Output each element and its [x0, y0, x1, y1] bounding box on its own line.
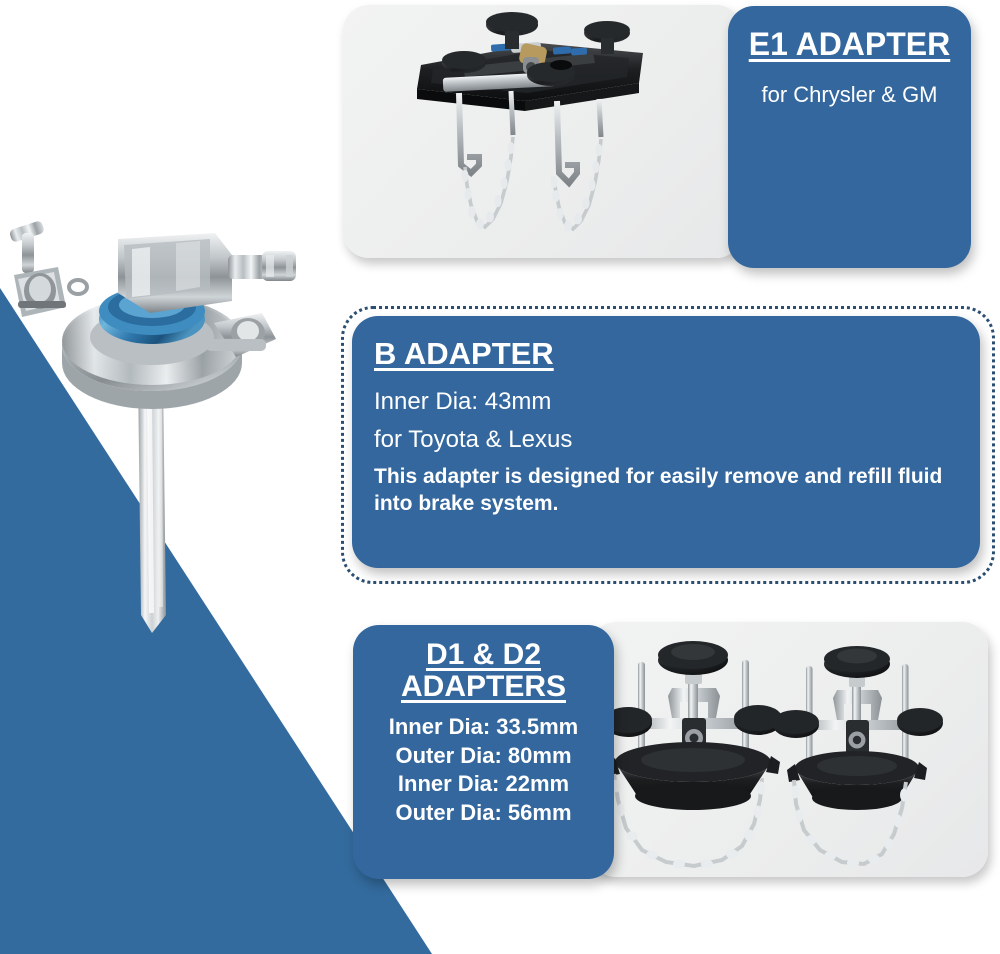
b-panel-title: B ADAPTER — [374, 338, 554, 370]
b-panel-description: This adapter is designed for easily remo… — [374, 464, 958, 518]
d-spec-item: Inner Dia: 33.5mm — [353, 713, 614, 742]
e1-info-panel: E1 ADAPTER for Chrysler & GM — [728, 6, 971, 268]
d-info-panel: D1 & D2 ADAPTERS Inner Dia: 33.5mm Outer… — [353, 625, 614, 879]
d1-adapter — [604, 641, 782, 868]
d-panel-title: D1 & D2 ADAPTERS — [353, 639, 614, 703]
e1-rod-right2 — [599, 99, 601, 137]
e1-hook-rod-center — [557, 101, 577, 183]
hero-left-clamp — [9, 220, 66, 317]
e1-adapter-photo — [343, 5, 742, 258]
d-photo-card — [590, 622, 988, 877]
d-panel-spec-list: Inner Dia: 33.5mm Outer Dia: 80mm Inner … — [353, 713, 614, 827]
d-panel-title-line1: D1 & D2 — [426, 638, 541, 671]
e1-photo-card — [343, 5, 742, 258]
e1-panel-subtitle: for Chrysler & GM — [728, 82, 971, 108]
infographic-canvas: E1 ADAPTER for Chrysler & GM B ADAPTER I… — [0, 0, 1000, 954]
e1-panel-title: E1 ADAPTER — [728, 28, 971, 61]
d-spec-item: Inner Dia: 22mm — [353, 770, 614, 799]
e1-knob-mid-left — [442, 51, 486, 73]
hero-eyelet — [69, 280, 87, 294]
d-spec-item: Outer Dia: 56mm — [353, 799, 614, 828]
b-panel-inner-dia: Inner Dia: 43mm — [374, 388, 551, 416]
d-spec-item: Outer Dia: 80mm — [353, 742, 614, 771]
e1-rod-left2 — [511, 91, 513, 135]
b-panel-vehicles: for Toyota & Lexus — [374, 426, 572, 454]
d2-adapter — [773, 646, 943, 867]
e1-blue-fitting-2 — [553, 46, 571, 54]
e1-blue-fitting-3 — [571, 47, 587, 55]
e1-port-hole — [550, 60, 572, 70]
b-info-panel: B ADAPTER Inner Dia: 43mm for Toyota & L… — [352, 316, 980, 568]
d-panel-title-line2: ADAPTERS — [401, 670, 566, 703]
hero-product-photo — [0, 215, 330, 675]
d-adapters-photo — [590, 622, 988, 877]
